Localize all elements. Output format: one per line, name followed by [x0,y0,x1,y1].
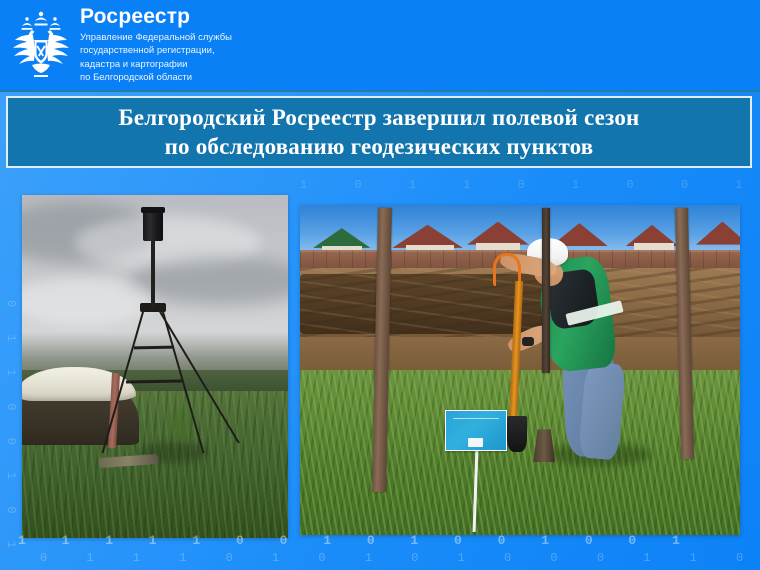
title-line-1: Белгородский Росреестр завершил полевой … [118,103,639,132]
brand-subtitle-line-1: Управление Федеральной службы [80,31,232,44]
foreground-grass-texture [300,370,740,535]
metal-post-middle [542,208,550,373]
brand-text-block: Росреестр Управление Федеральной службы … [80,6,232,85]
geodetic-point-information-sign [445,410,507,451]
brand-subtitle-line-4: по Белгородской области [80,71,232,84]
russian-double-headed-eagle-emblem [10,7,72,83]
site-header: Росреестр Управление Федеральной службы … [0,0,760,92]
title-line-2: по обследованию геодезических пунктов [165,132,594,161]
title-banner: Белгородский Росреестр завершил полевой … [6,96,752,168]
brand-title: Росреестр [80,6,232,28]
sign-logo-plate [468,438,483,447]
sapling-bush [166,401,195,442]
brand-subtitle-line-3: кадастра и картографии [80,58,232,71]
binary-decoration-middle-row: 1 0 1 1 0 1 0 0 1 1 0 1 0 1 0 0 1 1 0 [300,178,760,192]
tower-mast [151,236,155,308]
slide-background: 1 0 1 1 0 0 1 0 1 1 0 1 0 0 1 1 0 1 0 0 … [0,0,760,570]
brand-subtitle-line-2: государственной регистрации, [80,44,232,57]
photo-surveyor-digging [300,205,740,535]
binary-decoration-bottom-row-2: 0 1 1 1 0 1 0 1 0 1 0 0 0 1 1 0 0 0 0 1 … [40,551,760,565]
tower-cylinder-target [143,210,163,241]
tower-crossbar-upper [134,346,174,350]
photo-right-canvas [300,205,740,535]
tower-cylinder-cap [141,207,165,212]
sign-text-lines [453,418,498,437]
brand-subtitle: Управление Федеральной службы государств… [80,31,232,85]
binary-decoration-left-column: 0 1 1 0 0 1 0 1 1 0 [4,300,18,570]
photo-geodetic-tower [22,195,288,538]
shovel-blade [507,416,527,452]
photo-left-canvas [22,195,288,538]
worker-wristwatch [522,337,533,346]
